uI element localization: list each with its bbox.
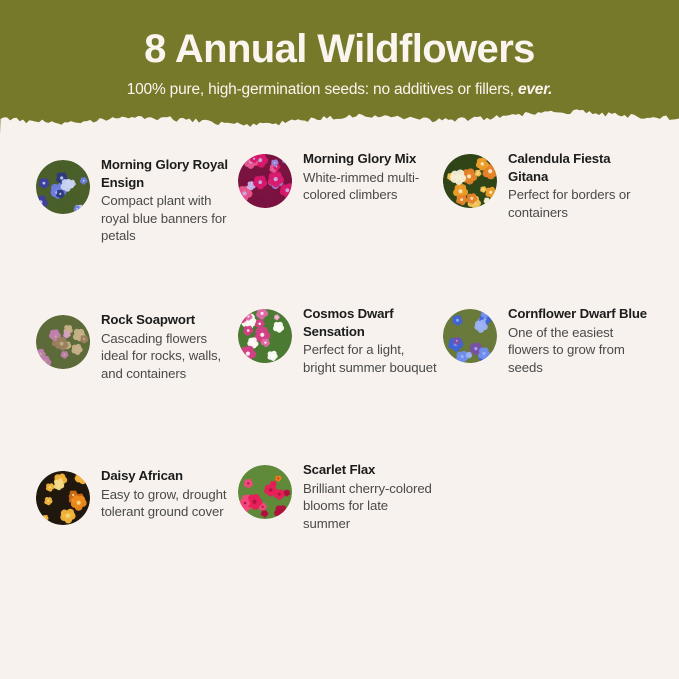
header-banner: 8 Annual Wildflowers 100% pure, high-ger… bbox=[0, 0, 679, 140]
subtitle-main-text: 100% pure, high-germination seeds: no ad… bbox=[127, 81, 518, 98]
flower-description: Cascading flowers ideal for rocks, walls… bbox=[101, 329, 232, 383]
page-title: 8 Annual Wildflowers bbox=[0, 0, 679, 73]
cosmos-dwarf-sensation-thumb bbox=[238, 309, 292, 363]
flower-name: Cornflower Dwarf Blue bbox=[508, 305, 648, 323]
flower-copy: Daisy AfricanEasy to grow, drought toler… bbox=[90, 467, 232, 521]
flower-name: Morning Glory Mix bbox=[303, 150, 438, 168]
flower-name: Morning Glory Royal Ensign bbox=[101, 156, 232, 191]
rock-soapwort-thumb bbox=[36, 315, 90, 369]
flower-copy: Cornflower Dwarf BlueOne of the easiest … bbox=[497, 305, 648, 376]
flower-copy: Morning Glory Royal EnsignCompact plant … bbox=[90, 156, 232, 245]
calendula-fiesta-gitana-thumb bbox=[443, 154, 497, 208]
flower-item[interactable]: Morning Glory MixWhite-rimmed multi-colo… bbox=[238, 150, 438, 208]
flower-name: Calendula Fiesta Gitana bbox=[508, 150, 648, 185]
page-subtitle: 100% pure, high-germination seeds: no ad… bbox=[0, 73, 679, 100]
flower-item[interactable]: Scarlet FlaxBrilliant cherry-colored blo… bbox=[238, 461, 438, 532]
flower-name: Scarlet Flax bbox=[303, 461, 438, 479]
flower-copy: Rock SoapwortCascading flowers ideal for… bbox=[90, 311, 232, 382]
flower-copy: Cosmos Dwarf SensationPerfect for a ligh… bbox=[292, 305, 438, 376]
flower-description: Perfect for borders or containers bbox=[508, 185, 648, 221]
flower-description: Perfect for a light, bright summer bouqu… bbox=[303, 340, 438, 376]
flower-description: Compact plant with royal blue banners fo… bbox=[101, 191, 232, 245]
morning-glory-mix-thumb bbox=[238, 154, 292, 208]
flower-copy: Calendula Fiesta GitanaPerfect for borde… bbox=[497, 150, 648, 221]
flower-description: Easy to grow, drought tolerant ground co… bbox=[101, 485, 232, 521]
flower-copy: Morning Glory MixWhite-rimmed multi-colo… bbox=[292, 150, 438, 204]
flower-item[interactable]: Daisy AfricanEasy to grow, drought toler… bbox=[36, 467, 232, 525]
flower-description: Brilliant cherry-colored blooms for late… bbox=[303, 479, 438, 533]
flower-name: Cosmos Dwarf Sensation bbox=[303, 305, 438, 340]
flower-copy: Scarlet FlaxBrilliant cherry-colored blo… bbox=[292, 461, 438, 532]
scarlet-flax-thumb bbox=[238, 465, 292, 519]
flower-item[interactable]: Calendula Fiesta GitanaPerfect for borde… bbox=[443, 150, 648, 221]
flower-item[interactable]: Cornflower Dwarf BlueOne of the easiest … bbox=[443, 305, 648, 376]
morning-glory-royal-ensign-thumb bbox=[36, 160, 90, 214]
subtitle-emphasis-text: ever. bbox=[518, 81, 552, 98]
flower-description: White-rimmed multi-colored climbers bbox=[303, 168, 438, 204]
flower-name: Daisy African bbox=[101, 467, 232, 485]
flower-name: Rock Soapwort bbox=[101, 311, 232, 329]
flower-item[interactable]: Rock SoapwortCascading flowers ideal for… bbox=[36, 311, 232, 382]
flower-item[interactable]: Morning Glory Royal EnsignCompact plant … bbox=[36, 156, 232, 245]
cornflower-dwarf-blue-thumb bbox=[443, 309, 497, 363]
flower-description: One of the easiest flowers to grow from … bbox=[508, 323, 648, 377]
header-text-block: 8 Annual Wildflowers 100% pure, high-ger… bbox=[0, 0, 679, 100]
daisy-african-thumb bbox=[36, 471, 90, 525]
flower-item[interactable]: Cosmos Dwarf SensationPerfect for a ligh… bbox=[238, 305, 438, 376]
